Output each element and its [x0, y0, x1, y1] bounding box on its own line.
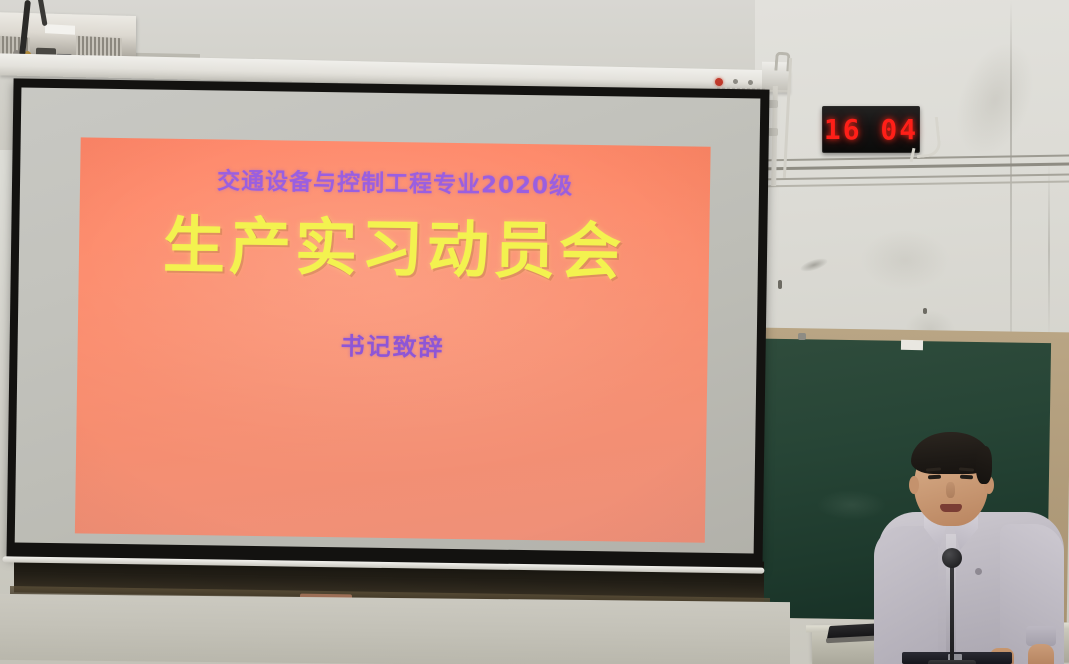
- microphone-base: [928, 660, 976, 664]
- shirt-logo-icon: [975, 568, 982, 575]
- chalk-smudge: [816, 489, 886, 520]
- wall-seam-secondary: [1048, 160, 1050, 340]
- wall-seam: [1010, 0, 1012, 340]
- screen-up-button[interactable]: [733, 79, 738, 84]
- wall-screw: [923, 308, 927, 314]
- speaker-shirt-cuff: [1026, 626, 1056, 646]
- lower-wall-band: [0, 594, 790, 664]
- screen-down-button[interactable]: [748, 80, 753, 85]
- screen-surface: 交通设备与控制工程专业2020级 生产实习动员会 书记致辞: [15, 88, 761, 554]
- speaker-eye-right: [960, 475, 973, 480]
- projected-slide: 交通设备与控制工程专业2020级 生产实习动员会 书记致辞: [75, 137, 711, 542]
- speaker-hair-side: [976, 446, 992, 484]
- speaker-right-hand: [1028, 644, 1054, 664]
- projector-label: [45, 24, 75, 35]
- clock-time-display: 16 04: [824, 113, 918, 146]
- slide-speaker-line: 书记致辞: [77, 322, 707, 366]
- speaker-left-shoulder: [874, 526, 938, 664]
- speaker-person: [880, 430, 1060, 664]
- speaker-mouth: [940, 504, 962, 512]
- slide-main-title: 生产实习动员会: [79, 193, 710, 292]
- power-indicator-icon: [715, 78, 723, 86]
- lecture-hall-photo: 交通设备与控制工程专业2020级 生产实习动员会 书记致辞 16 04: [0, 0, 1069, 664]
- digital-wall-clock: 16 04: [822, 106, 920, 153]
- cable-clip: [768, 128, 778, 136]
- microphone-stand: [950, 558, 954, 664]
- speaker-ear-left: [909, 476, 919, 494]
- cable-clip: [768, 100, 778, 108]
- speaker-eye-left: [928, 475, 941, 480]
- blackboard-label-tag: [901, 340, 923, 350]
- speaker-nose: [946, 482, 955, 498]
- projection-screen: 交通设备与控制工程专业2020级 生产实习动员会 书记致辞: [6, 78, 769, 567]
- wall-screw: [778, 280, 782, 289]
- blackboard-clip: [798, 333, 806, 340]
- screen-border: 交通设备与控制工程专业2020级 生产实习动员会 书记致辞: [6, 78, 769, 567]
- microphone-icon: [942, 548, 962, 568]
